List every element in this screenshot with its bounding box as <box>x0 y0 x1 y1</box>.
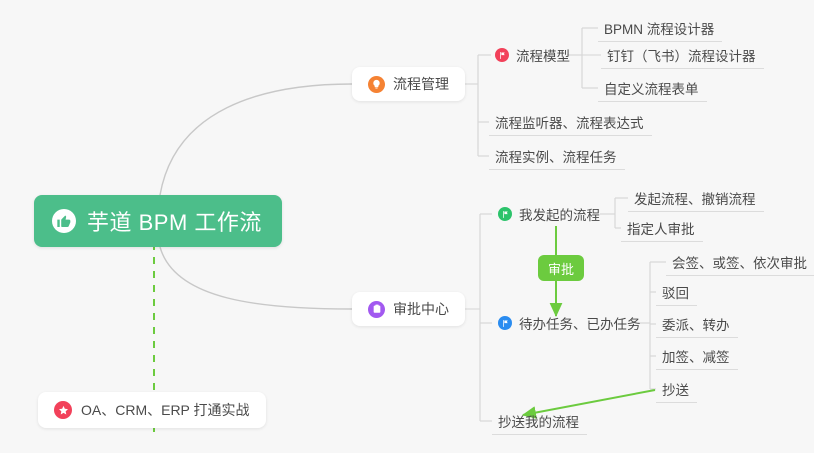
node-label: 自定义流程表单 <box>604 78 699 98</box>
node-label: 钉钉（飞书）流程设计器 <box>607 45 756 65</box>
node-label: 抄送 <box>662 379 689 399</box>
node-delegate-transfer[interactable]: 委派、转办 <box>656 310 738 338</box>
branch-label: 审批中心 <box>393 299 449 319</box>
flag-blue-icon <box>498 316 512 330</box>
node-label: 会签、或签、依次审批 <box>672 252 807 272</box>
node-custom-form[interactable]: 自定义流程表单 <box>598 74 707 102</box>
clipboard-icon <box>368 301 385 318</box>
node-todo-done-tasks[interactable]: 待办任务、已办任务 <box>492 309 649 337</box>
branch-label: 流程管理 <box>393 74 449 94</box>
root-label: 芋道 BPM 工作流 <box>87 205 262 237</box>
node-assignee-approval[interactable]: 指定人审批 <box>621 214 703 242</box>
node-dingtalk-designer[interactable]: 钉钉（飞书）流程设计器 <box>601 41 764 69</box>
node-label: 加签、减签 <box>662 346 730 366</box>
thumbs-up-icon <box>52 209 76 233</box>
link-root-to-process-management <box>160 84 352 195</box>
node-start-cancel-process[interactable]: 发起流程、撤销流程 <box>628 184 764 212</box>
node-add-remove-sign[interactable]: 加签、减签 <box>656 342 738 370</box>
node-label: BPMN 流程设计器 <box>604 18 714 38</box>
branch-process-management[interactable]: 流程管理 <box>352 67 465 101</box>
star-icon <box>54 401 72 419</box>
footer-node-integration-practice[interactable]: OA、CRM、ERP 打通实战 <box>38 392 266 428</box>
node-process-instance[interactable]: 流程实例、流程任务 <box>489 142 625 170</box>
branch-approval-center[interactable]: 审批中心 <box>352 292 465 326</box>
node-reject[interactable]: 驳回 <box>656 278 697 306</box>
node-cc[interactable]: 抄送 <box>656 375 697 403</box>
flag-green-icon <box>498 207 512 221</box>
node-label: 抄送我的流程 <box>498 411 579 431</box>
node-label: 流程监听器、流程表达式 <box>495 112 644 132</box>
node-label: 驳回 <box>662 282 689 302</box>
node-label: 流程实例、流程任务 <box>495 146 617 166</box>
node-label: 发起流程、撤销流程 <box>634 188 756 208</box>
node-cc-to-me[interactable]: 抄送我的流程 <box>492 407 587 435</box>
node-process-model[interactable]: 流程模型 <box>489 41 578 69</box>
root-node[interactable]: 芋道 BPM 工作流 <box>34 195 282 247</box>
node-my-initiated[interactable]: 我发起的流程 <box>492 200 608 228</box>
node-label: 委派、转办 <box>662 314 730 334</box>
node-bpmn-designer[interactable]: BPMN 流程设计器 <box>598 14 722 42</box>
flag-red-icon <box>495 48 509 62</box>
node-process-listener[interactable]: 流程监听器、流程表达式 <box>489 108 652 136</box>
footer-node-label: OA、CRM、ERP 打通实战 <box>81 400 250 420</box>
mindmap-canvas: 芋道 BPM 工作流 流程管理 流程模型 BPMN 流程设计器 钉钉（飞书）流程… <box>0 0 814 453</box>
node-label: 指定人审批 <box>627 218 695 238</box>
link-root-to-approval-center <box>160 247 352 309</box>
node-countersign[interactable]: 会签、或签、依次审批 <box>666 248 814 276</box>
node-label: 流程模型 <box>516 45 570 65</box>
node-label: 待办任务、已办任务 <box>519 313 641 333</box>
approval-badge: 审批 <box>538 255 584 281</box>
node-label: 我发起的流程 <box>519 204 600 224</box>
lightbulb-icon <box>368 76 385 93</box>
